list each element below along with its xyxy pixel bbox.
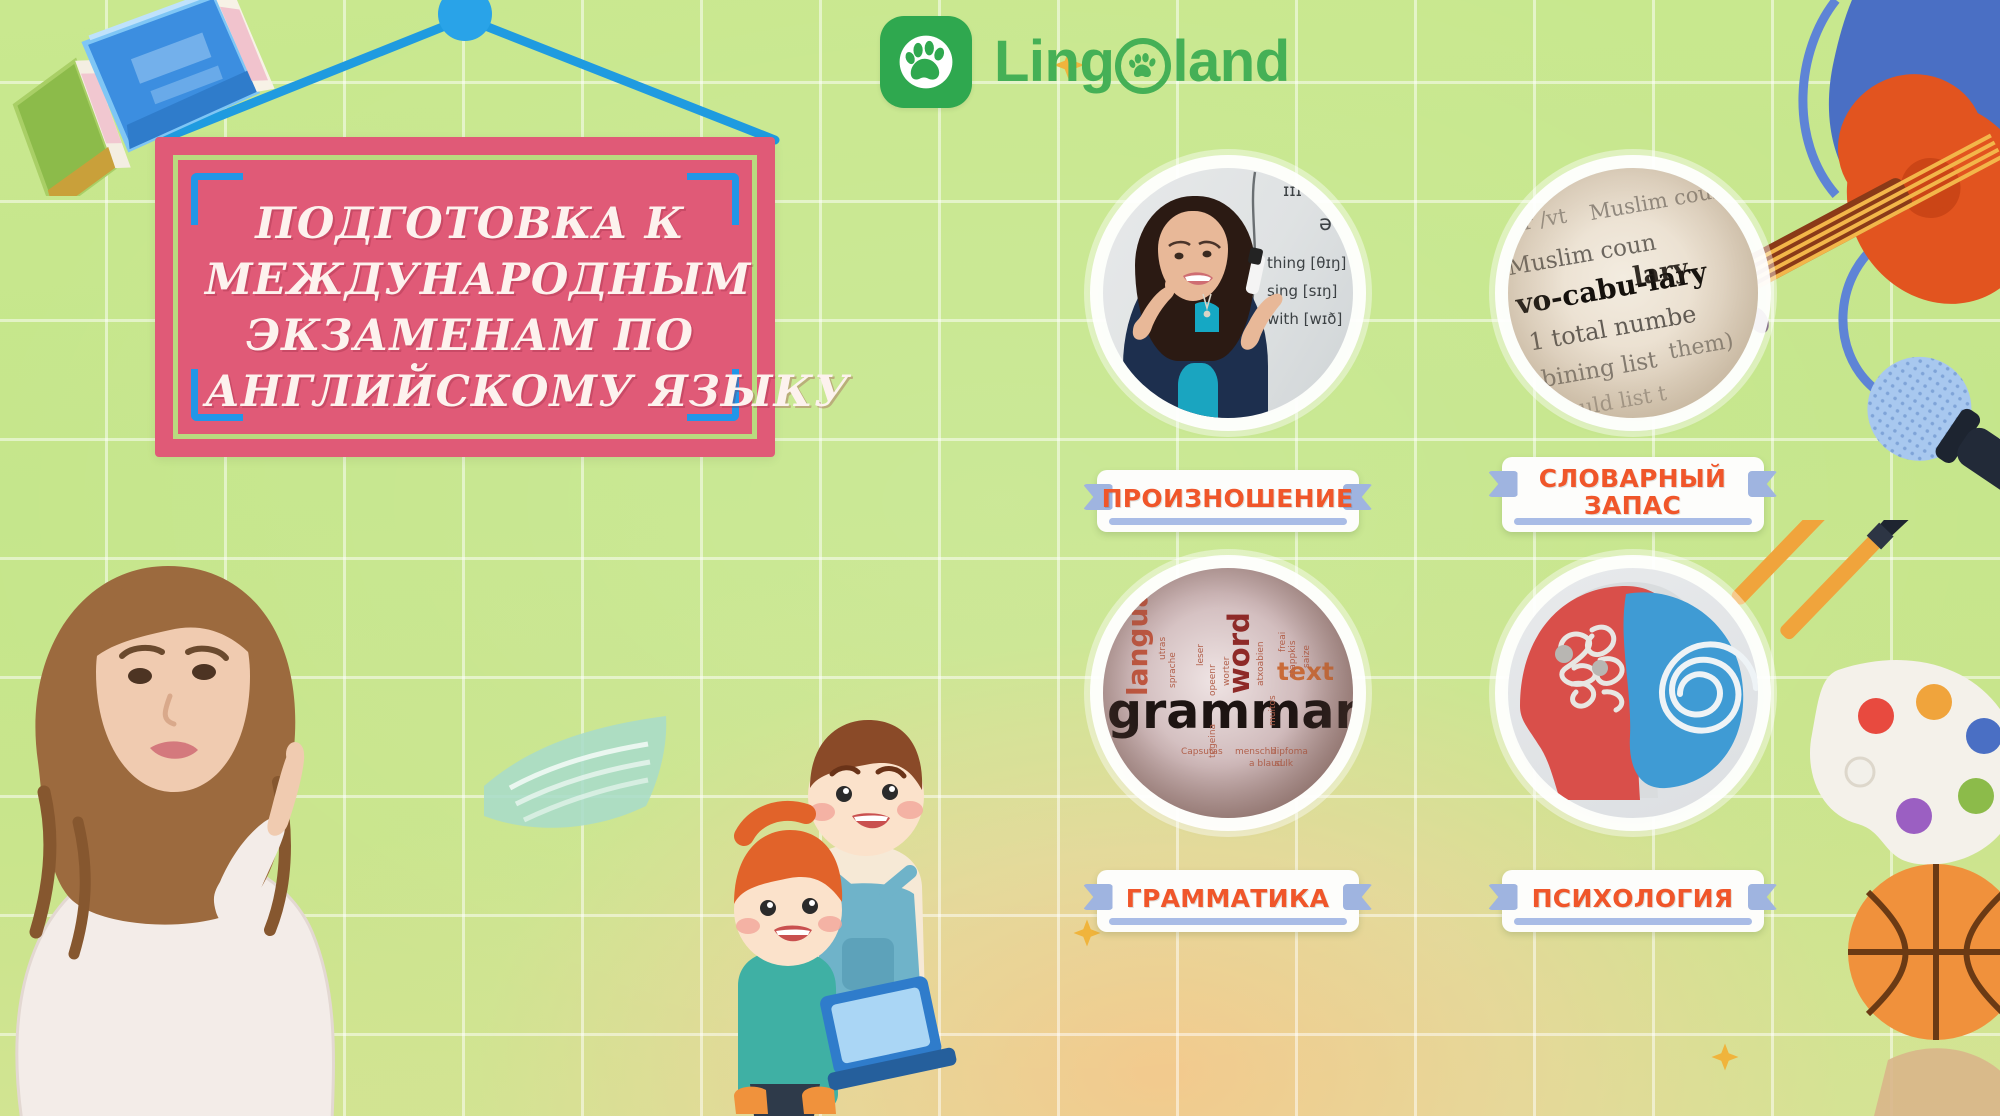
topic-card-pronunciation[interactable]: ɪɪɪ ə thing [θɪŋ] sing [sɪŋ] with [wɪð] <box>1035 160 1420 550</box>
title-line-4: АНГЛИЙСКОМУ ЯЗЫКУ <box>205 365 735 421</box>
topic-card-grammar[interactable]: grammar language word text utras sprache… <box>1035 560 1420 950</box>
topic-card-label-line-2: ЗАПАС <box>1584 491 1681 520</box>
dictionary-page-photo: ctor /vt Muslim coun Muslim coun vo-cabu… <box>1508 168 1758 418</box>
logo-text-part-1: Ling <box>994 33 1114 91</box>
ribbon-underline <box>1109 918 1347 925</box>
grammar-word-cloud-photo: grammar language word text utras sprache… <box>1103 568 1353 818</box>
slide-canvas: Ling land П <box>0 0 2000 1116</box>
ribbon-underline <box>1109 518 1347 525</box>
teacher-at-whiteboard-photo: ɪɪɪ ə thing [θɪŋ] sing [sɪŋ] with [wɪð] <box>1103 168 1353 418</box>
topic-card-ribbon: СЛОВАРНЫЙ ЗАПАС <box>1502 457 1764 532</box>
topic-card-ribbon: ПРОИЗНОШЕНИЕ <box>1097 470 1359 532</box>
title-banner: ПОДГОТОВКА К МЕЖДУНАРОДНЫМ ЭКЗАМЕНАМ ПО … <box>155 137 775 457</box>
logo-text-part-2: land <box>1172 33 1289 91</box>
topic-card-image <box>1508 568 1758 818</box>
two-minds-illustration <box>1508 568 1758 818</box>
logo-wordmark: Ling land <box>994 33 1290 91</box>
paw-print-icon <box>1125 48 1161 84</box>
logo-mark <box>880 16 972 108</box>
topic-card-vocabulary[interactable]: ctor /vt Muslim coun Muslim coun vo-cabu… <box>1440 160 1825 550</box>
paw-print-icon <box>893 29 959 95</box>
topic-card-label: ПРОИЗНОШЕНИЕ <box>1102 486 1354 513</box>
dictionary-vignette <box>1508 168 1758 418</box>
topic-card-label: СЛОВАРНЫЙ ЗАПАС <box>1539 466 1727 519</box>
logo-paw-o-icon <box>1115 38 1171 94</box>
topic-card-image: ɪɪɪ ə thing [θɪŋ] sing [sɪŋ] with [wɪð] <box>1103 168 1353 418</box>
title-line-1: ПОДГОТОВКА К <box>205 197 735 253</box>
topic-card-image: ctor /vt Muslim coun Muslim coun vo-cabu… <box>1508 168 1758 418</box>
title-line-2: МЕЖДУНАРОДНЫМ <box>205 253 735 309</box>
topic-card-label: ГРАММАТИКА <box>1126 886 1329 913</box>
topic-card-image: grammar language word text utras sprache… <box>1103 568 1353 818</box>
teacher-details <box>1103 168 1353 418</box>
cloud-vignette <box>1103 568 1353 818</box>
ribbon-underline <box>1514 918 1752 925</box>
topic-card-psychology[interactable]: ПСИХОЛОГИЯ <box>1440 560 1825 950</box>
title-line-3: ЭКЗАМЕНАМ ПО <box>205 309 735 365</box>
topic-card-ribbon: ПСИХОЛОГИЯ <box>1502 870 1764 932</box>
topic-card-grid: ɪɪɪ ə thing [θɪŋ] sing [sɪŋ] with [wɪð] <box>1035 160 1825 950</box>
topic-card-ribbon: ГРАММАТИКА <box>1097 870 1359 932</box>
page-title: ПОДГОТОВКА К МЕЖДУНАРОДНЫМ ЭКЗАМЕНАМ ПО … <box>205 197 735 421</box>
two-heads-graphic <box>1508 568 1758 818</box>
brand-logo[interactable]: Ling land <box>880 16 1290 108</box>
topic-card-label: ПСИХОЛОГИЯ <box>1532 886 1734 913</box>
topic-card-label-line-1: СЛОВАРНЫЙ <box>1539 464 1727 493</box>
